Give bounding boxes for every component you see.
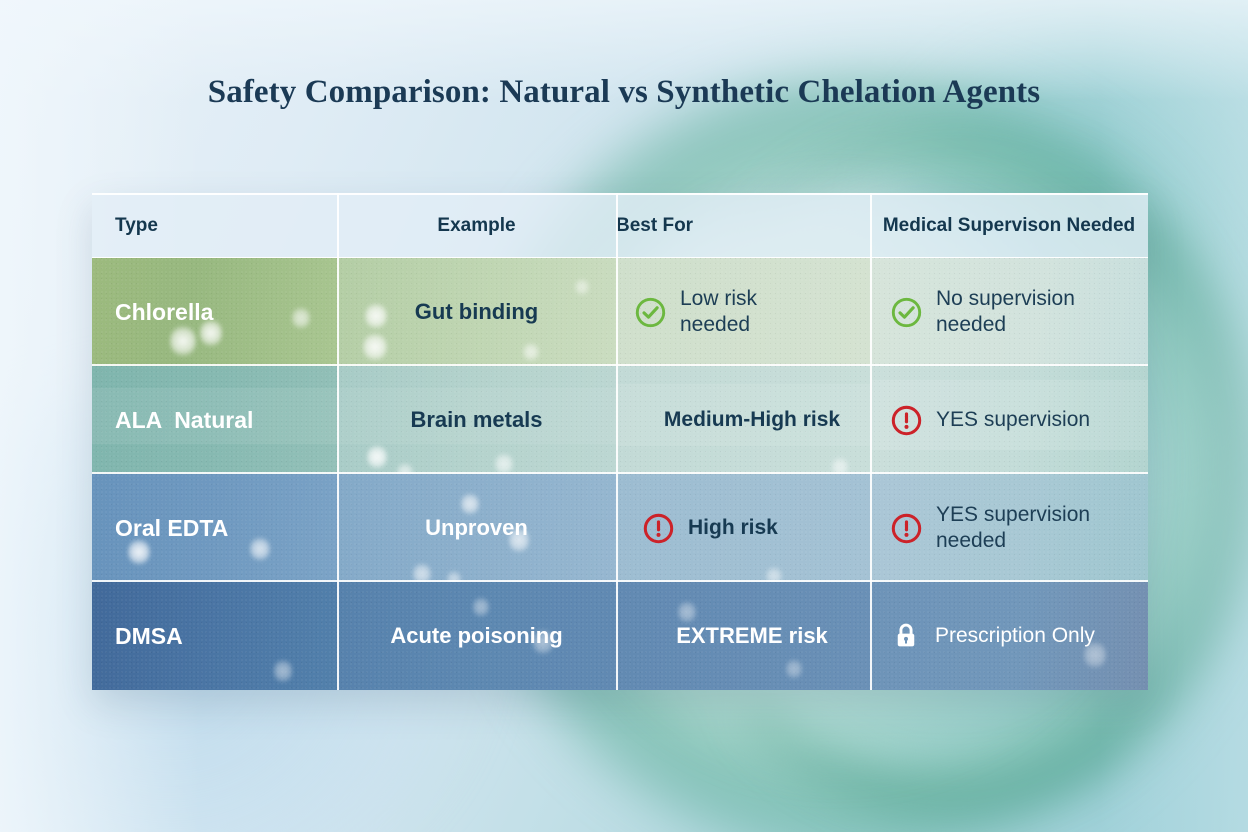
cell-best-for: EXTREME risk [616,582,870,690]
bokeh-dot [495,452,513,474]
column-header-example: Example [337,193,616,258]
cell-best-for-label: Low risk needed [680,286,830,338]
cell-best-for-label: High risk [688,516,778,540]
comparison-table: Type Example Best For Medical Supervison… [92,193,1148,690]
cell-example-label: Acute poisoning [390,623,562,649]
bokeh-dot [786,658,802,680]
bokeh-dot [575,278,589,296]
cell-type: Chlorella [92,258,337,366]
cell-example-label: Unproven [425,515,528,541]
bokeh-dot [473,596,489,618]
table-row[interactable]: ALA Natural Brain metals Medium-High ris… [92,366,1148,474]
cell-type: Oral EDTA [92,474,337,582]
cell-supervision-label: YES supervision [936,407,1090,433]
column-header-type-label: Type [115,215,337,237]
cell-best-for: High risk [616,474,870,582]
table-header-row: Type Example Best For Medical Supervison… [92,193,1148,258]
bokeh-dot [367,444,387,470]
cell-example-label: Brain metals [410,407,542,433]
cell-best-for-label: EXTREME risk [676,623,828,649]
cell-example: Brain metals [337,366,616,474]
cell-example: Unproven [337,474,616,582]
bokeh-dot [832,456,848,474]
bokeh-dot [523,342,539,362]
cell-supervision-label: YES supervision needed [936,502,1128,554]
column-header-example-label: Example [337,215,616,237]
cell-best-for: Low risk needed [616,258,870,366]
cell-type-label: Chlorella [115,299,213,326]
bokeh-dot [170,324,196,358]
cell-supervision: YES supervision needed [870,474,1148,582]
bokeh-dot [128,538,150,566]
page-title: Safety Comparison: Natural vs Synthetic … [0,74,1248,111]
lock-icon [890,620,922,652]
check-circle-icon [890,296,923,329]
bokeh-dot [447,570,461,582]
table-row[interactable]: DMSA Acute poisoning EXTREME risk [92,582,1148,690]
bokeh-dot [274,658,292,684]
cell-type-label: ALA Natural [115,407,253,434]
check-circle-icon [634,296,667,329]
column-header-supervision-label: Medical Supervison Needed [870,213,1148,238]
cell-supervision-label: Prescription Only [935,623,1095,649]
cell-type-label: DMSA [115,623,183,650]
bokeh-dot [413,562,431,582]
cell-supervision: YES supervision [870,366,1148,474]
column-header-type: Type [92,193,337,258]
bokeh-dot [363,332,387,362]
cell-best-for-label: Medium-High risk [664,408,840,432]
column-header-supervision: Medical Supervison Needed [870,193,1148,258]
cell-type: DMSA [92,582,337,690]
cell-example: Acute poisoning [337,582,616,690]
cell-type: ALA Natural [92,366,337,474]
cell-best-for: Medium-High risk [616,366,870,474]
cell-supervision: No supervision needed [870,258,1148,366]
column-header-best-for: Best For [616,193,870,258]
cell-supervision: Prescription Only [870,582,1148,690]
cell-supervision-label: No supervision needed [936,286,1126,338]
bokeh-dot [461,492,479,516]
cell-example: Gut binding [337,258,616,366]
column-header-best-for-label: Best For [616,215,870,237]
bokeh-dot [766,566,782,582]
warning-circle-icon [890,512,923,545]
table-row[interactable]: Chlorella Gut binding Low risk needed [92,258,1148,366]
cell-example-label: Gut binding [415,299,538,325]
warning-circle-icon [642,512,675,545]
cell-type-label: Oral EDTA [115,515,228,542]
table-row[interactable]: Oral EDTA Unproven High risk [92,474,1148,582]
warning-circle-icon [890,404,923,437]
bokeh-dot [678,600,696,624]
